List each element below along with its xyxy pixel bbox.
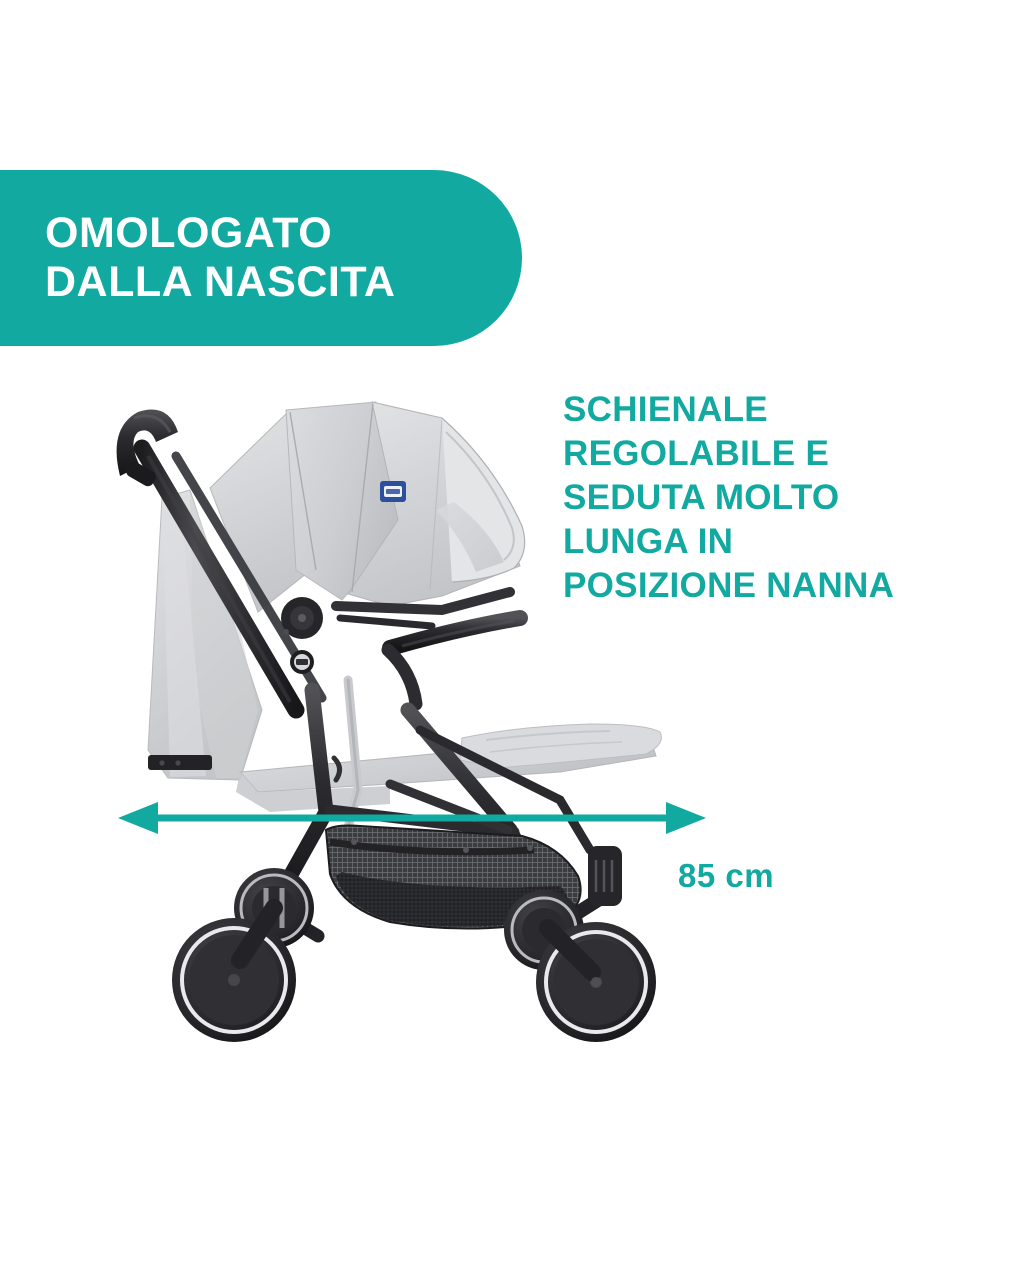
- certification-banner: OMOLOGATO DALLA NASCITA: [0, 170, 522, 346]
- arrowhead-left: [118, 802, 158, 834]
- chicco-logo-badge: [380, 481, 406, 502]
- banner-line-2: DALLA NASCITA: [45, 258, 522, 307]
- stroller-canopy: [210, 402, 525, 612]
- bumper-bar: [388, 618, 520, 704]
- headline-line-3: SEDUTA MOLTO: [563, 476, 1003, 520]
- headline-line-5: POSIZIONE NANNA: [563, 564, 1003, 608]
- feature-headline: SCHIENALE REGOLABILE E SEDUTA MOLTO LUNG…: [563, 388, 1003, 608]
- banner-line-1: OMOLOGATO: [45, 209, 522, 258]
- headline-line-4: LUNGA IN: [563, 520, 1003, 564]
- frame-logo-hub: [290, 650, 314, 674]
- front-wheel-main: [172, 918, 296, 1042]
- width-measure-label: 85 cm: [678, 857, 774, 895]
- frame-hinge-hub: [281, 597, 323, 639]
- product-feature-image: OMOLOGATO DALLA NASCITA SCHIENALE REGOLA…: [0, 0, 1020, 1282]
- width-measure-arrow: [118, 798, 706, 838]
- headline-line-1: SCHIENALE: [563, 388, 1003, 432]
- headline-line-2: REGOLABILE E: [563, 432, 1003, 476]
- arrowhead-right: [666, 802, 706, 834]
